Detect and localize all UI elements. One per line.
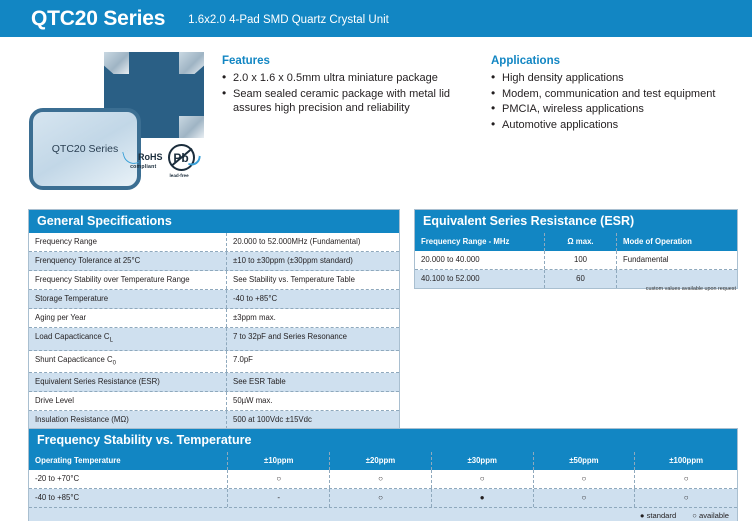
table-row: Storage Temperature-40 to +85°C (29, 290, 399, 309)
stability-legend: ● standard ○ available (29, 508, 737, 521)
legend-std-label: standard (647, 511, 677, 520)
spec-label: Aging per Year (29, 309, 227, 327)
stability-mark: ○ (635, 470, 737, 488)
rohs-sublabel: compliant (130, 165, 156, 170)
stability-mark: ○ (330, 470, 432, 488)
stability-operating-temperature: -20 to +70°C (29, 470, 228, 488)
pad-top-right (179, 52, 204, 74)
spec-label: Load Capacticance CL (29, 328, 227, 350)
spec-label: Frequency Range (29, 233, 227, 251)
esr-ohm-max: 100 (545, 251, 617, 269)
spec-label-subscript: 0 (113, 360, 116, 366)
spec-label: Equivalent Series Resistance (ESR) (29, 373, 227, 391)
esr-note: custom values available upon request (414, 286, 738, 292)
table-row: -40 to +85°C-○●○○ (29, 489, 737, 508)
spec-label: Frequency Stability over Temperature Ran… (29, 271, 227, 289)
spec-value: 7.0pF (227, 351, 399, 373)
spec-label: Frenquency Tolerance at 25°C (29, 252, 227, 270)
stability-header-row: Operating Temperature ±10ppm ±20ppm ±30p… (29, 452, 737, 470)
spec-value: -40 to +85°C (227, 290, 399, 308)
features-heading: Features (222, 55, 480, 67)
page-subtitle: 1.6x2.0 4-Pad SMD Quartz Crystal Unit (188, 11, 389, 26)
esr-col-ohm-max: Ω max. (545, 233, 617, 251)
applications-list: High density applications Modem, communi… (491, 71, 749, 132)
stability-col-10ppm: ±10ppm (228, 452, 330, 470)
stability-operating-temperature: -40 to +85°C (29, 489, 228, 507)
table-row: 20.000 to 40.000100Fundamental (415, 251, 737, 270)
table-row: -20 to +70°C○○○○○ (29, 470, 737, 489)
stability-table: Frequency Stability vs. Temperature Oper… (28, 428, 738, 521)
general-specifications-table: General Specifications Frequency Range20… (28, 209, 400, 430)
list-item: Seam sealed ceramic package with metal l… (222, 87, 480, 116)
table-row: Aging per Year±3ppm max. (29, 309, 399, 328)
spec-value: 500 at 100Vdc ±15Vdc (227, 411, 399, 429)
general-specifications-title: General Specifications (29, 210, 399, 233)
spec-value: ±10 to ±30ppm (±30ppm standard) (227, 252, 399, 270)
esr-frequency-range: 20.000 to 40.000 (415, 251, 545, 269)
table-row: Load Capacticance CL7 to 32pF and Series… (29, 328, 399, 351)
list-item: Automotive applications (491, 118, 749, 133)
applications-heading: Applications (491, 55, 749, 67)
chip-label: QTC20 Series (52, 143, 119, 155)
table-row: Drive Level50µW max. (29, 392, 399, 411)
compliance-logos: RoHS compliant Pb lead-free (124, 140, 204, 180)
list-item: 2.0 x 1.6 x 0.5mm ultra miniature packag… (222, 71, 480, 86)
stability-col-100ppm: ±100ppm (635, 452, 737, 470)
table-row: Frequency Range20.000 to 52.000MHz (Fund… (29, 233, 399, 252)
spec-value: 20.000 to 52.000MHz (Fundamental) (227, 233, 399, 251)
esr-col-frequency-range: Frequency Range - MHz (415, 233, 545, 251)
table-row: Insulation Resistance (MΩ)500 at 100Vdc … (29, 411, 399, 429)
spec-value: See ESR Table (227, 373, 399, 391)
stability-col-20ppm: ±20ppm (330, 452, 432, 470)
page-header: QTC20 Series 1.6x2.0 4-Pad SMD Quartz Cr… (0, 0, 752, 37)
stability-col-30ppm: ±30ppm (432, 452, 534, 470)
esr-table: Equivalent Series Resistance (ESR) Frequ… (414, 209, 738, 289)
spec-label-subscript: L (110, 338, 113, 344)
legend-av-mark: ○ (692, 511, 697, 520)
stability-mark: ○ (534, 470, 636, 488)
rohs-label: RoHS (138, 153, 163, 162)
datasheet-page: QTC20 Series 1.6x2.0 4-Pad SMD Quartz Cr… (0, 0, 752, 521)
stability-mark: ○ (432, 470, 534, 488)
spec-value: 7 to 32pF and Series Resonance (227, 328, 399, 350)
general-specifications-body: Frequency Range20.000 to 52.000MHz (Fund… (29, 233, 399, 429)
lead-free-icon: Pb lead-free (166, 143, 200, 177)
esr-title: Equivalent Series Resistance (ESR) (415, 210, 737, 233)
legend-av-label: available (699, 511, 729, 520)
stability-mark: ○ (330, 489, 432, 507)
legend-available: ○ available (692, 511, 729, 520)
esr-body: 20.000 to 40.000100Fundamental40.100 to … (415, 251, 737, 288)
stability-mark: ○ (635, 489, 737, 507)
list-item: High density applications (491, 71, 749, 86)
table-row: Equivalent Series Resistance (ESR)See ES… (29, 373, 399, 392)
table-row: Shunt Capacticance C07.0pF (29, 351, 399, 374)
stability-col-50ppm: ±50ppm (534, 452, 636, 470)
pad-top-left (104, 52, 129, 74)
list-item: Modem, communication and test equipment (491, 87, 749, 102)
legend-std-mark: ● (640, 511, 645, 520)
features-section: Features 2.0 x 1.6 x 0.5mm ultra miniatu… (222, 55, 480, 117)
page-title: QTC20 Series (31, 7, 165, 31)
spec-label: Insulation Resistance (MΩ) (29, 411, 227, 429)
stability-title: Frequency Stability vs. Temperature (29, 429, 737, 452)
table-row: Frequency Stability over Temperature Ran… (29, 271, 399, 290)
list-item: PMCIA, wireless applications (491, 102, 749, 117)
spec-label: Shunt Capacticance C0 (29, 351, 227, 373)
stability-mark: - (228, 489, 330, 507)
stability-legend-row: ● standard ○ available (29, 508, 737, 521)
spec-label: Drive Level (29, 392, 227, 410)
spec-value: See Stability vs. Temperature Table (227, 271, 399, 289)
stability-body: -20 to +70°C○○○○○-40 to +85°C-○●○○ (29, 470, 737, 508)
stability-mark: ○ (534, 489, 636, 507)
esr-col-mode-of-operation: Mode of Operation (617, 233, 737, 251)
features-list: 2.0 x 1.6 x 0.5mm ultra miniature packag… (222, 71, 480, 116)
stability-mark: ○ (228, 470, 330, 488)
stability-mark: ● (432, 489, 534, 507)
swoosh-icon (188, 154, 201, 167)
rohs-compliant-icon: RoHS compliant (124, 150, 163, 170)
esr-mode-of-operation: Fundamental (617, 251, 737, 269)
spec-value: ±3ppm max. (227, 309, 399, 327)
applications-section: Applications High density applications M… (491, 55, 749, 133)
pad-bottom-right (179, 116, 204, 138)
lead-free-label: lead-free (170, 173, 189, 178)
stability-col-operating-temperature: Operating Temperature (29, 452, 228, 470)
legend-standard: ● standard (640, 511, 676, 520)
table-row: Frenquency Tolerance at 25°C±10 to ±30pp… (29, 252, 399, 271)
esr-header-row: Frequency Range - MHz Ω max. Mode of Ope… (415, 233, 737, 251)
spec-value: 50µW max. (227, 392, 399, 410)
spec-label: Storage Temperature (29, 290, 227, 308)
